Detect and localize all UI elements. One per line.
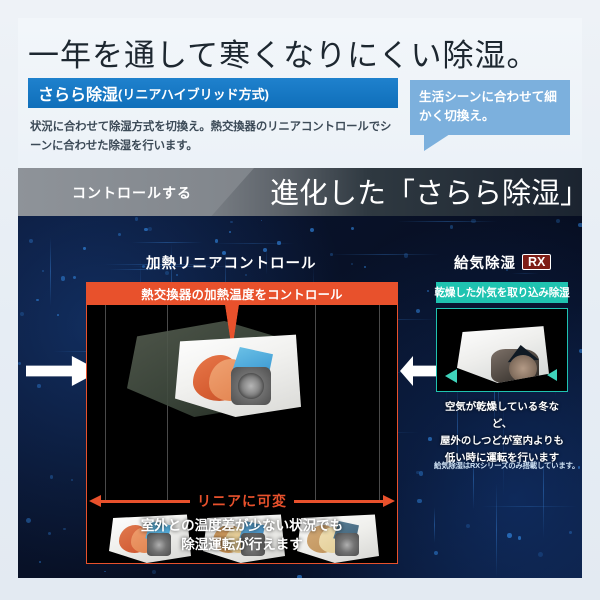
left-panel-heading: 加熱リニアコントロール xyxy=(146,252,317,273)
diagram-section: 加熱リニアコントロール 熱交換器の加熱温度をコントロール xyxy=(18,216,582,578)
feature-name-main: さらら除湿 xyxy=(38,81,118,105)
heat-exchanger-illustration xyxy=(127,317,317,437)
linear-arrow-right-icon xyxy=(279,500,383,503)
right-panel-description: 空気が乾燥している冬など、 屋外のしつどが室内よりも 低い時に運転を行います xyxy=(436,400,568,467)
intake-arrow-icon-2 xyxy=(547,369,557,381)
outdoor-air-illustration xyxy=(436,308,568,392)
left-panel-footer: 室外との温度差が少ない状況でも 除湿運転が行えます xyxy=(87,516,397,555)
right-panel-teal-bar: 乾燥した外気を取り込み除湿 xyxy=(436,282,568,303)
banner-right-label: 進化した「さらら除湿」 xyxy=(270,170,582,212)
left-panel: 熱交換器の加熱温度をコントロール xyxy=(86,282,398,564)
left-panel-orange-bar: 熱交換器の加熱温度をコントロール xyxy=(87,283,397,305)
right-panel-heading: 給気除湿RX xyxy=(454,252,551,273)
content-card: 一年を通して寒くなりにくい除湿。 さらら除湿 (リニアハイブリッド方式) 状況に… xyxy=(18,18,582,578)
left-footer-line-2: 除湿運転が行えます xyxy=(87,535,397,555)
linear-variable-label: リニアに可変 xyxy=(190,491,294,511)
feature-name-bar: さらら除湿 (リニアハイブリッド方式) xyxy=(28,78,398,108)
infographic-page: 一年を通して寒くなりにくい除湿。 さらら除湿 (リニアハイブリッド方式) 状況に… xyxy=(0,0,600,600)
banner-left-label: コントロールする xyxy=(72,183,192,203)
right-panel: 乾燥した外気を取り込み除湿 空気が乾燥している冬など、 屋外のしつどが室内よりも… xyxy=(436,282,568,564)
intro-body-text: 状況に合わせて除湿方式を切換え。熱交換器のリニアコントロールでシーンに合わせた除… xyxy=(30,118,402,156)
callout-text: 生活シーンに合わせて細かく切換え。 xyxy=(419,90,557,123)
right-panel-note: 給気除湿はRXシリーズのみ搭載しています。 xyxy=(434,460,572,471)
rx-badge: RX xyxy=(522,254,551,270)
left-footer-line-1: 室外との温度差が少ない状況でも xyxy=(87,516,397,536)
intake-arrow-icon-1 xyxy=(445,369,457,383)
callout-bubble: 生活シーンに合わせて細かく切換え。 xyxy=(410,80,570,135)
right-desc-line-2: 屋外のしつどが室内よりも xyxy=(436,434,568,451)
page-title: 一年を通して寒くなりにくい除湿。 xyxy=(28,30,568,75)
right-desc-line-1: 空気が乾燥している冬など、 xyxy=(436,400,568,434)
right-panel-heading-text: 給気除湿 xyxy=(454,256,516,272)
section-banner: コントロールする 進化した「さらら除湿」 xyxy=(18,168,582,216)
fan-icon xyxy=(231,367,271,405)
fan-icon xyxy=(509,355,537,382)
linear-variable-row: リニアに可変 xyxy=(87,489,397,515)
callout-tail-icon xyxy=(424,134,450,151)
feature-name-sub: (リニアハイブリッド方式) xyxy=(118,84,269,103)
